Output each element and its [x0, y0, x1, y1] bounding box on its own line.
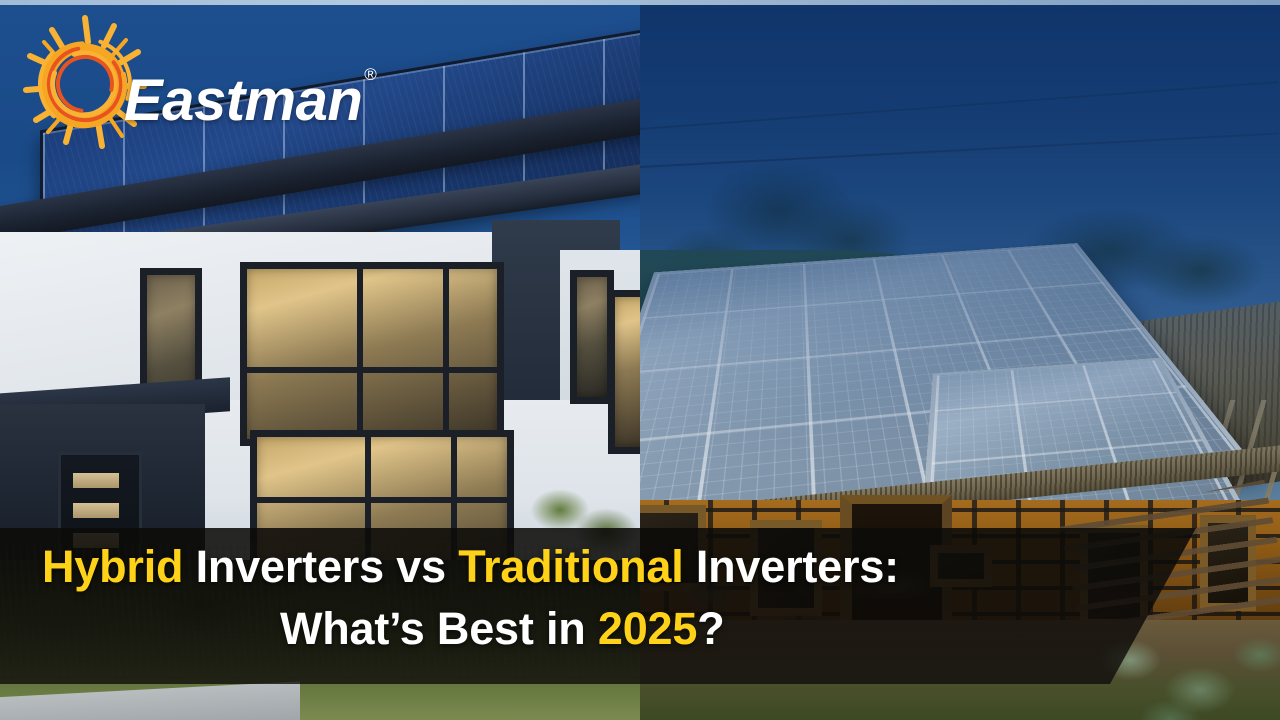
- window-mullion: [257, 497, 507, 503]
- door-glass-pane: [73, 503, 119, 518]
- door-glass-pane: [73, 473, 119, 488]
- headline-overlay-band: [0, 528, 1280, 684]
- top-edge-strip: [0, 0, 1280, 5]
- window-mullion: [247, 367, 497, 373]
- brand-name-text: Eastman: [124, 68, 362, 133]
- window-mullion: [357, 269, 363, 439]
- brand-logo[interactable]: Eastman®: [22, 12, 374, 152]
- brand-wordmark: Eastman®: [124, 34, 374, 130]
- window-side-tall: [608, 290, 640, 454]
- window-upper-wide: [240, 262, 504, 446]
- registered-mark: ®: [364, 65, 376, 84]
- window-mullion: [443, 269, 449, 439]
- banner-root: Eastman® Hybrid Inverters vs Traditional…: [0, 0, 1280, 720]
